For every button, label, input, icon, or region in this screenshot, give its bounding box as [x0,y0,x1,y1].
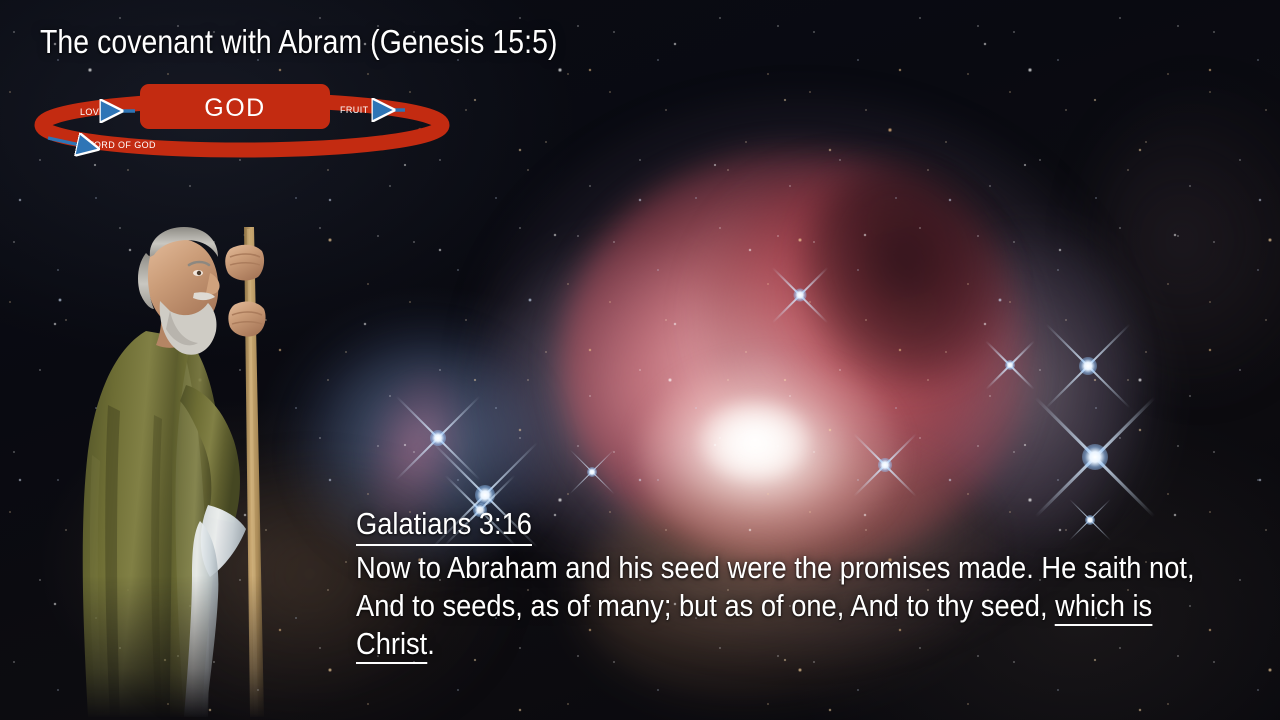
abram-figure [58,205,313,720]
diagram-label-love: LOVE [80,107,106,117]
page-title: The covenant with Abram (Genesis 15:5) [40,22,558,62]
scripture-reference: Galatians 3:16 [356,505,532,546]
god-cycle-diagram[interactable]: GOD LOVE FRUIT WORD OF GOD [30,82,460,167]
god-box-label: GOD [204,94,265,122]
diagram-label-fruit: FRUIT [340,105,369,115]
diagram-label-word-of-god: WORD OF GOD [85,140,156,150]
scripture-block: Galatians 3:16 Now to Abraham and his se… [356,505,1236,663]
verse-text-after: . [427,626,435,661]
slide-canvas: GOD LOVE FRUIT WORD OF GOD The covenant … [0,0,1280,720]
scripture-verse: Now to Abraham and his seed were the pro… [356,549,1236,663]
